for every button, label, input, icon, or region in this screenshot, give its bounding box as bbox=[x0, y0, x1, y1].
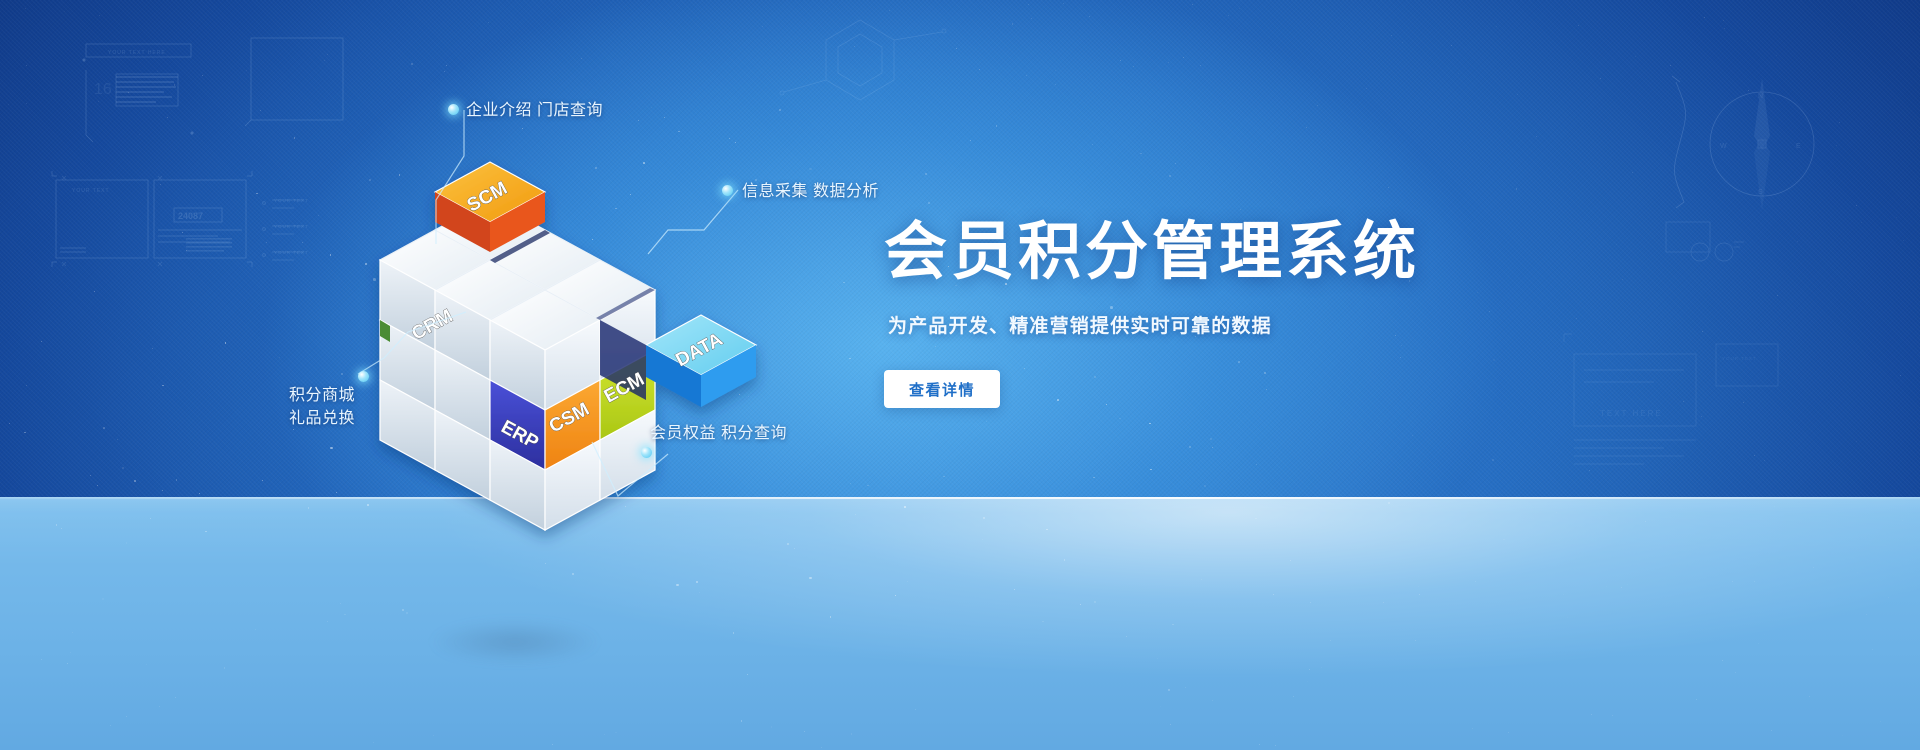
svg-text:YOUR TEXT: YOUR TEXT bbox=[1722, 356, 1757, 361]
callout-member-benefits[interactable]: 会员权益 积分查询 bbox=[650, 422, 787, 445]
floor-shadow-smudge bbox=[430, 620, 600, 664]
callout-company-intro[interactable]: 企业介绍 门店查询 bbox=[466, 99, 603, 122]
svg-text:TEXT HERE: TEXT HERE bbox=[1600, 409, 1663, 418]
callout-text-line2: 礼品兑换 bbox=[289, 407, 355, 430]
svg-text:YOUR TEXT HERE: YOUR TEXT HERE bbox=[108, 50, 166, 56]
svg-text:24087: 24087 bbox=[178, 211, 203, 221]
floor-reflection bbox=[0, 497, 1920, 750]
hud-hexagon-decor bbox=[760, 10, 980, 140]
callout-dot-icon bbox=[722, 185, 733, 196]
svg-text:YOUR TEXT: YOUR TEXT bbox=[72, 188, 110, 194]
page-title: 会员积分管理系统 bbox=[884, 216, 1584, 289]
callout-text-line1: 积分商城 bbox=[289, 384, 355, 407]
svg-text:S: S bbox=[1758, 189, 1763, 196]
horizon-line bbox=[0, 497, 1920, 499]
svg-text:YOUR TEXT: YOUR TEXT bbox=[274, 224, 309, 229]
callout-data-collection[interactable]: 信息采集 数据分析 bbox=[742, 180, 879, 203]
svg-text:YOUR TEXT: YOUR TEXT bbox=[274, 250, 309, 255]
hero-text-block: 会员积分管理系统 为产品开发、精准营销提供实时可靠的数据 查看详情 bbox=[884, 216, 1584, 408]
rubiks-cube-illustration: SCM CRM DATA ERP CSM ECM bbox=[350, 150, 730, 510]
callout-points-mall[interactable]: 积分商城 礼品兑换 bbox=[289, 384, 355, 430]
callout-dot-icon bbox=[448, 104, 459, 115]
callout-dot-icon bbox=[641, 447, 652, 458]
svg-text:16: 16 bbox=[94, 81, 112, 98]
callout-text: 信息采集 数据分析 bbox=[742, 183, 879, 200]
view-details-button[interactable]: 查看详情 bbox=[884, 370, 1000, 408]
svg-text:E: E bbox=[1796, 143, 1801, 150]
svg-text:YOUR TEXT: YOUR TEXT bbox=[274, 198, 309, 203]
callout-text: 会员权益 积分查询 bbox=[650, 425, 787, 442]
svg-text:N: N bbox=[1758, 93, 1763, 100]
callout-text: 企业介绍 门店查询 bbox=[466, 102, 603, 119]
hud-compass-right: NE SW bbox=[1610, 16, 1910, 326]
page-subtitle: 为产品开发、精准营销提供实时可靠的数据 bbox=[888, 311, 1584, 338]
hero-banner: YOUR TEXT HERE 16 YOUR TEXT 24087 YOUR T… bbox=[0, 0, 1920, 750]
hud-blueprint-left: YOUR TEXT HERE 16 YOUR TEXT 24087 YOUR T… bbox=[46, 30, 346, 350]
callout-dot-icon bbox=[358, 371, 369, 382]
svg-text:W: W bbox=[1720, 143, 1727, 150]
